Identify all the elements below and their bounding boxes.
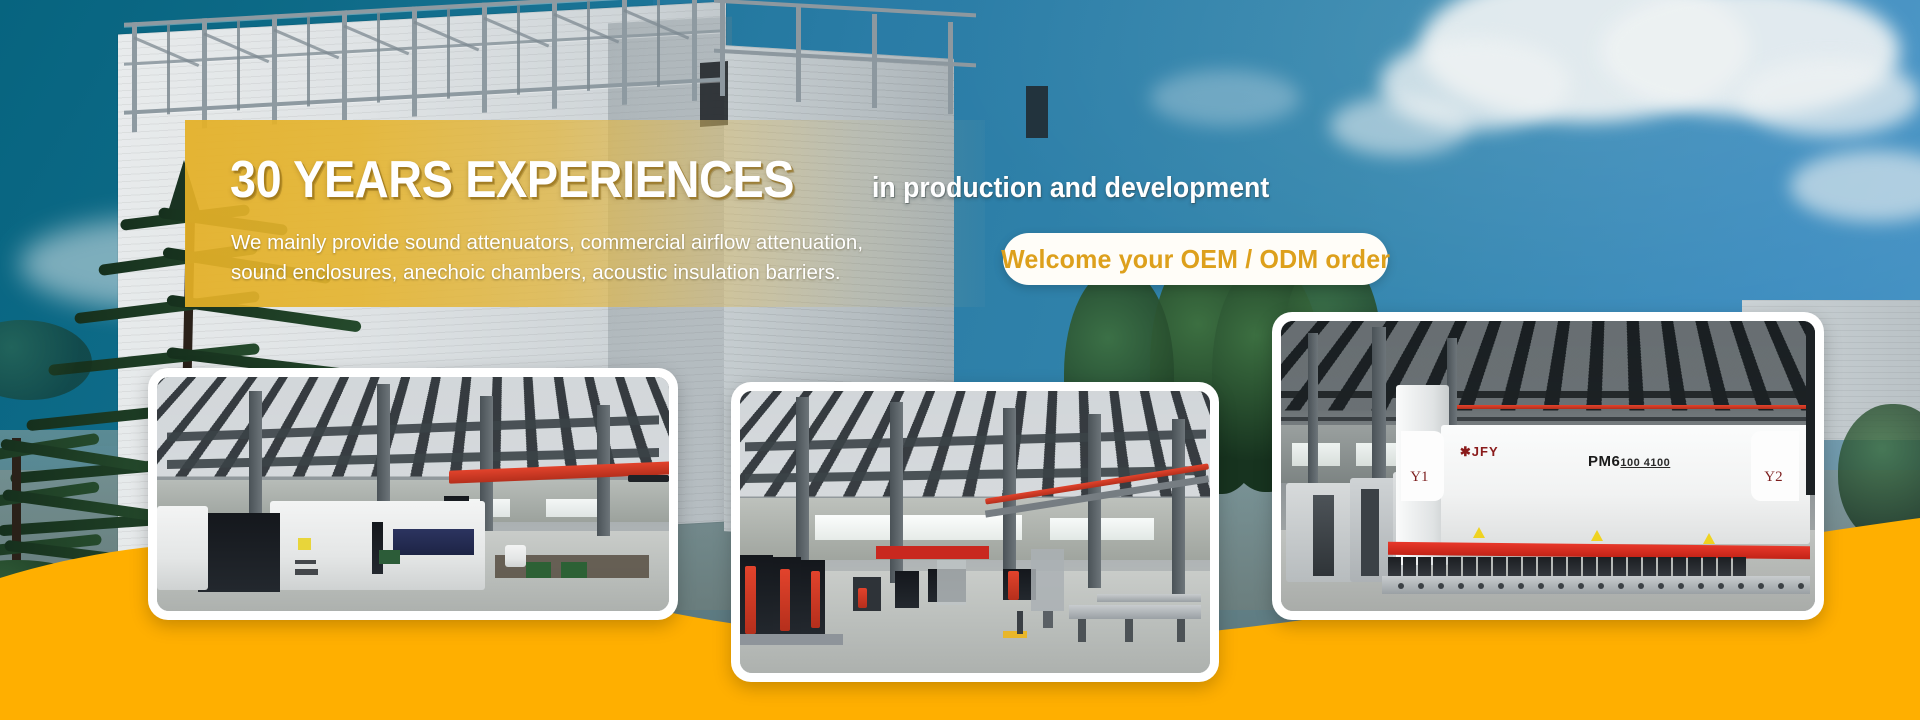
page-title: 30 YEARS EXPERIENCES bbox=[230, 156, 794, 206]
photo-card-press-brake[interactable]: Y1 Y2 ✱JFY PM6100 4100 bbox=[1272, 312, 1824, 620]
warning-triangle-icon bbox=[1473, 527, 1485, 538]
brand-label-jfy: ✱JFY bbox=[1460, 444, 1499, 460]
description-line-2: sound enclosures, anechoic chambers, aco… bbox=[231, 258, 991, 288]
page-subtitle-inline: in production and development bbox=[872, 174, 1269, 206]
axis-label-y1: Y1 bbox=[1410, 469, 1428, 486]
model-label-pm6: PM6100 4100 bbox=[1588, 453, 1670, 470]
cloud-icon bbox=[1330, 96, 1470, 156]
oem-odm-badge[interactable]: Welcome your OEM / ODM order bbox=[1003, 233, 1388, 285]
description-line-1: We mainly provide sound attenuators, com… bbox=[231, 228, 991, 258]
photo-card-fabrication-workshop[interactable] bbox=[731, 382, 1219, 682]
headline-row: 30 YEARS EXPERIENCES in production and d… bbox=[230, 148, 1250, 206]
warning-triangle-icon bbox=[1703, 533, 1715, 544]
description-text: We mainly provide sound attenuators, com… bbox=[231, 228, 991, 289]
cloud-icon bbox=[1150, 70, 1300, 126]
hero-banner: 30 YEARS EXPERIENCES in production and d… bbox=[0, 0, 1920, 720]
pallet-jack bbox=[1003, 631, 1027, 638]
warning-triangle-icon bbox=[1591, 530, 1603, 541]
photo-card-laser-machine[interactable] bbox=[148, 368, 678, 620]
cloud-icon bbox=[1740, 58, 1920, 136]
wall-banner bbox=[876, 546, 989, 559]
photo-press-brake-and-enclosures: Y1 Y2 ✱JFY PM6100 4100 bbox=[1281, 321, 1815, 611]
photo-sheet-metal-workshop bbox=[740, 391, 1210, 673]
facade-gap-secondary bbox=[1026, 86, 1048, 138]
tooling-row bbox=[1388, 557, 1810, 576]
roof-steel-framework bbox=[700, 0, 1020, 120]
axis-label-y2: Y2 bbox=[1764, 469, 1782, 486]
oem-odm-badge-label: Welcome your OEM / ODM order bbox=[1001, 244, 1390, 275]
photo-laser-cutting-workshop bbox=[157, 377, 669, 611]
